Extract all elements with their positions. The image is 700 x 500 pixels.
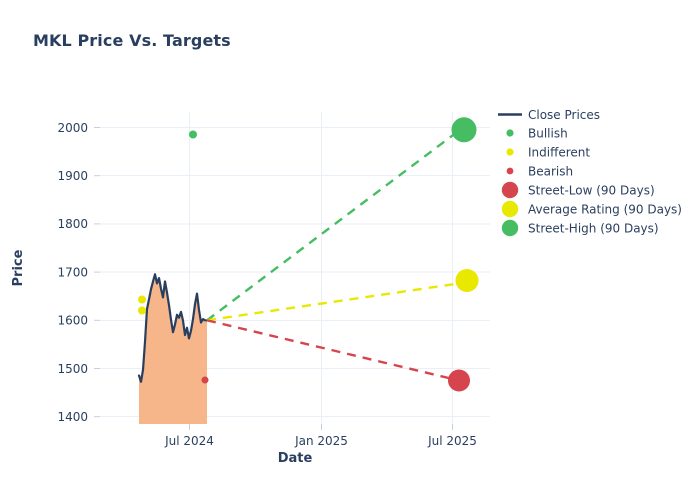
y-axis-title: Price	[11, 249, 26, 286]
forecast-lines	[207, 130, 464, 380]
y-tick-label: 1900	[57, 169, 88, 183]
bearish-rating-dot[interactable]	[202, 377, 209, 384]
x-tick-label: Jul 2025	[427, 434, 477, 448]
y-tick-label: 1400	[57, 410, 88, 424]
legend-label[interactable]: Bearish	[528, 165, 573, 179]
chart-plot-svg: 2000 1900 1800 1700 1600 1500 1400 Jul 2…	[0, 0, 700, 500]
legend-marker-street-low	[502, 182, 518, 198]
y-tick-label: 1500	[57, 362, 88, 376]
x-axis-ticks	[190, 424, 453, 430]
legend-label[interactable]: Close Prices	[528, 108, 600, 122]
chart-legend: Close Prices Bullish Indifferent Bearish…	[498, 108, 682, 236]
y-tick-label: 1700	[57, 265, 88, 279]
street-low-endpoint-marker[interactable]	[448, 370, 470, 392]
legend-label[interactable]: Indifferent	[528, 146, 590, 160]
legend-marker-bullish	[506, 129, 513, 136]
chart-container: MKL Price Vs. Targets	[0, 0, 700, 500]
y-tick-label: 2000	[57, 121, 88, 135]
average-rating-endpoint-marker[interactable]	[456, 269, 479, 292]
y-tick-label: 1600	[57, 314, 88, 328]
indifferent-rating-dot[interactable]	[138, 307, 146, 315]
legend-marker-indifferent	[506, 148, 513, 155]
average-rating-dashed-line	[207, 283, 464, 321]
x-tick-label: Jan 2025	[294, 434, 348, 448]
legend-marker-bearish	[507, 168, 514, 175]
legend-label[interactable]: Street-High (90 Days)	[528, 222, 659, 236]
street-high-dashed-line	[207, 130, 460, 320]
y-axis-ticks	[94, 128, 100, 417]
legend-label[interactable]: Average Rating (90 Days)	[528, 203, 682, 217]
vertical-gridlines	[190, 112, 453, 424]
x-axis-title: Date	[278, 451, 313, 466]
legend-label[interactable]: Bullish	[528, 127, 568, 141]
legend-marker-street-high	[502, 220, 518, 236]
indifferent-rating-dot[interactable]	[138, 296, 146, 304]
y-axis-tick-labels: 2000 1900 1800 1700 1600 1500 1400	[57, 121, 88, 424]
x-tick-label: Jul 2024	[164, 434, 214, 448]
street-low-dashed-line	[207, 320, 455, 379]
street-high-endpoint-marker[interactable]	[452, 117, 477, 142]
x-axis-tick-labels: Jul 2024 Jan 2025 Jul 2025	[164, 434, 477, 448]
legend-label[interactable]: Street-Low (90 Days)	[528, 184, 655, 198]
legend-marker-average-rating	[502, 201, 518, 217]
bullish-rating-dot[interactable]	[189, 131, 197, 139]
y-tick-label: 1800	[57, 217, 88, 231]
